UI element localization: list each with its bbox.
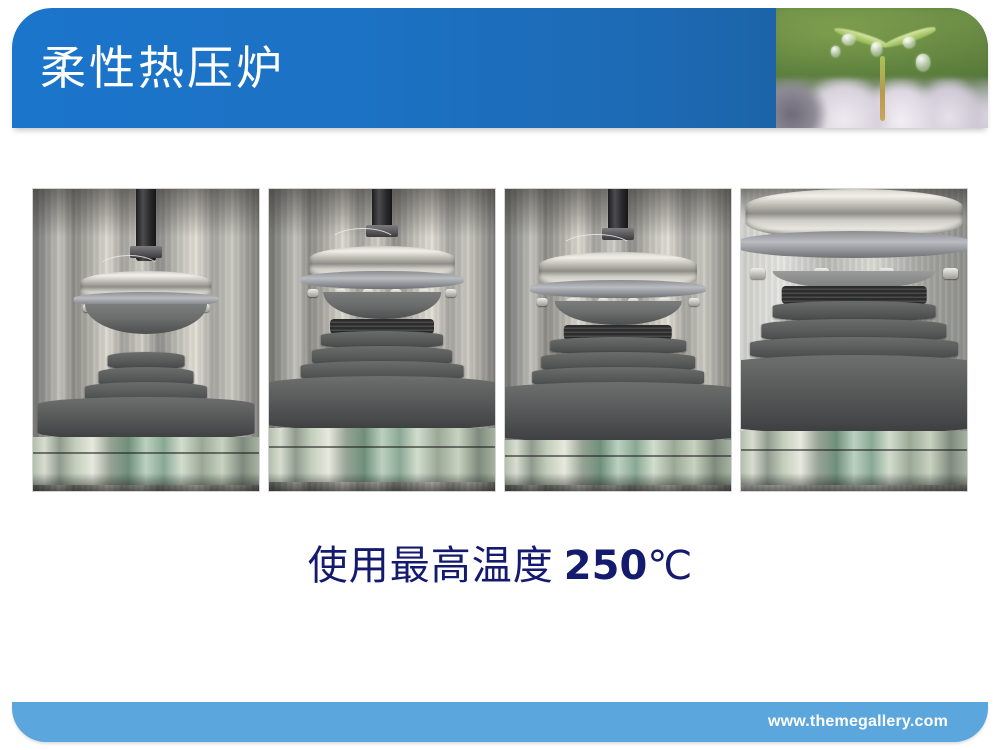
temperature-caption: 使用最高温度250℃: [0, 546, 1000, 586]
floor-shadow: [33, 473, 259, 491]
caption-label: 使用最高温度: [308, 543, 554, 589]
hot-press-furnace-contact-image[interactable]: [504, 188, 732, 492]
water-droplet-4: [916, 54, 930, 71]
footer-website-url[interactable]: www.themegallery.com: [768, 713, 948, 731]
caption-value: 250: [564, 543, 648, 589]
upper-platen-band: [301, 271, 464, 289]
chrome-seam-line: [268, 446, 496, 448]
water-droplet-3: [903, 37, 915, 48]
page-title: 柔性热压炉: [40, 45, 285, 91]
upper-platen-band: [740, 231, 968, 258]
slide: 柔性热压炉: [0, 0, 1000, 750]
flange-bolt: [943, 268, 958, 279]
flange-bolt: [307, 289, 318, 297]
chrome-seam-line: [504, 455, 732, 457]
floor-shadow: [741, 473, 967, 491]
flange-bolt: [688, 298, 699, 306]
chrome-seam-line: [740, 449, 968, 451]
header-bar: 柔性热压炉: [12, 8, 988, 128]
flange-bolt: [446, 289, 457, 297]
floor-shadow: [505, 473, 731, 491]
seedling-with-water-droplets-image: [776, 8, 988, 128]
photo-gallery: [32, 188, 968, 492]
seedling-stem: [880, 56, 885, 121]
base-platen: [268, 376, 496, 430]
chrome-seam-line: [32, 452, 260, 454]
hot-press-furnace-open-image[interactable]: [32, 188, 260, 492]
caption-unit: ℃: [647, 543, 692, 589]
hot-press-furnace-approaching-image[interactable]: [268, 188, 496, 492]
base-platen: [38, 397, 255, 439]
upper-platen-band: [530, 280, 706, 298]
base-platen: [740, 355, 968, 434]
flange-bolt: [537, 298, 548, 306]
hot-press-furnace-closeup-image[interactable]: [740, 188, 968, 492]
flange-bolt: [750, 268, 765, 279]
floor-shadow: [269, 473, 495, 491]
base-platen: [504, 382, 732, 442]
footer-bar: www.themegallery.com: [12, 702, 988, 742]
